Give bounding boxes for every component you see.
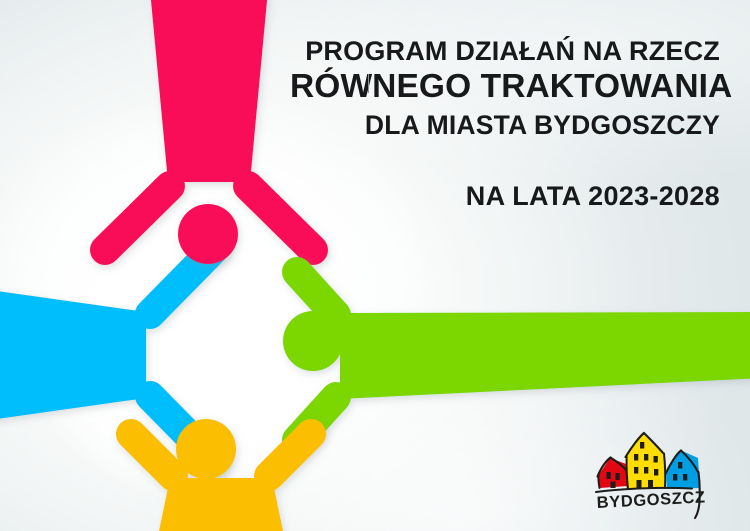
title-line-1: PROGRAM DZIAŁAŃ NA RZECZ [290,36,720,66]
figure-left-blue-head [69,313,129,373]
figure-right-green-head [283,311,343,371]
house-red-icon [598,458,629,489]
text-caret [368,74,369,93]
title-line-2: RÓWNEGO TRAKTOWANIA [290,68,720,107]
bydgoszcz-wordmark: BYDGOSZCZ [596,488,706,512]
figure-top-pink-head [178,204,238,264]
poster-canvas: PROGRAM DZIAŁAŃ NA RZECZ RÓWNEGO TRAKTOW… [0,0,750,531]
figure-top-pink [105,0,313,264]
figure-bottom-yellow-head [176,419,236,479]
title-line-4-years: NA LATA 2023-2028 [290,181,720,212]
figure-top-pink-body [150,0,268,182]
poster-title-block: PROGRAM DZIAŁAŃ NA RZECZ RÓWNEGO TRAKTOW… [290,36,720,212]
figure-right-green-body [340,312,750,399]
title-line-3: DLA MIASTA BYDGOSZCZY [290,110,720,141]
house-yellow-icon [626,432,667,489]
bydgoszcz-city-logo: BYDGOSZCZ [588,430,718,520]
